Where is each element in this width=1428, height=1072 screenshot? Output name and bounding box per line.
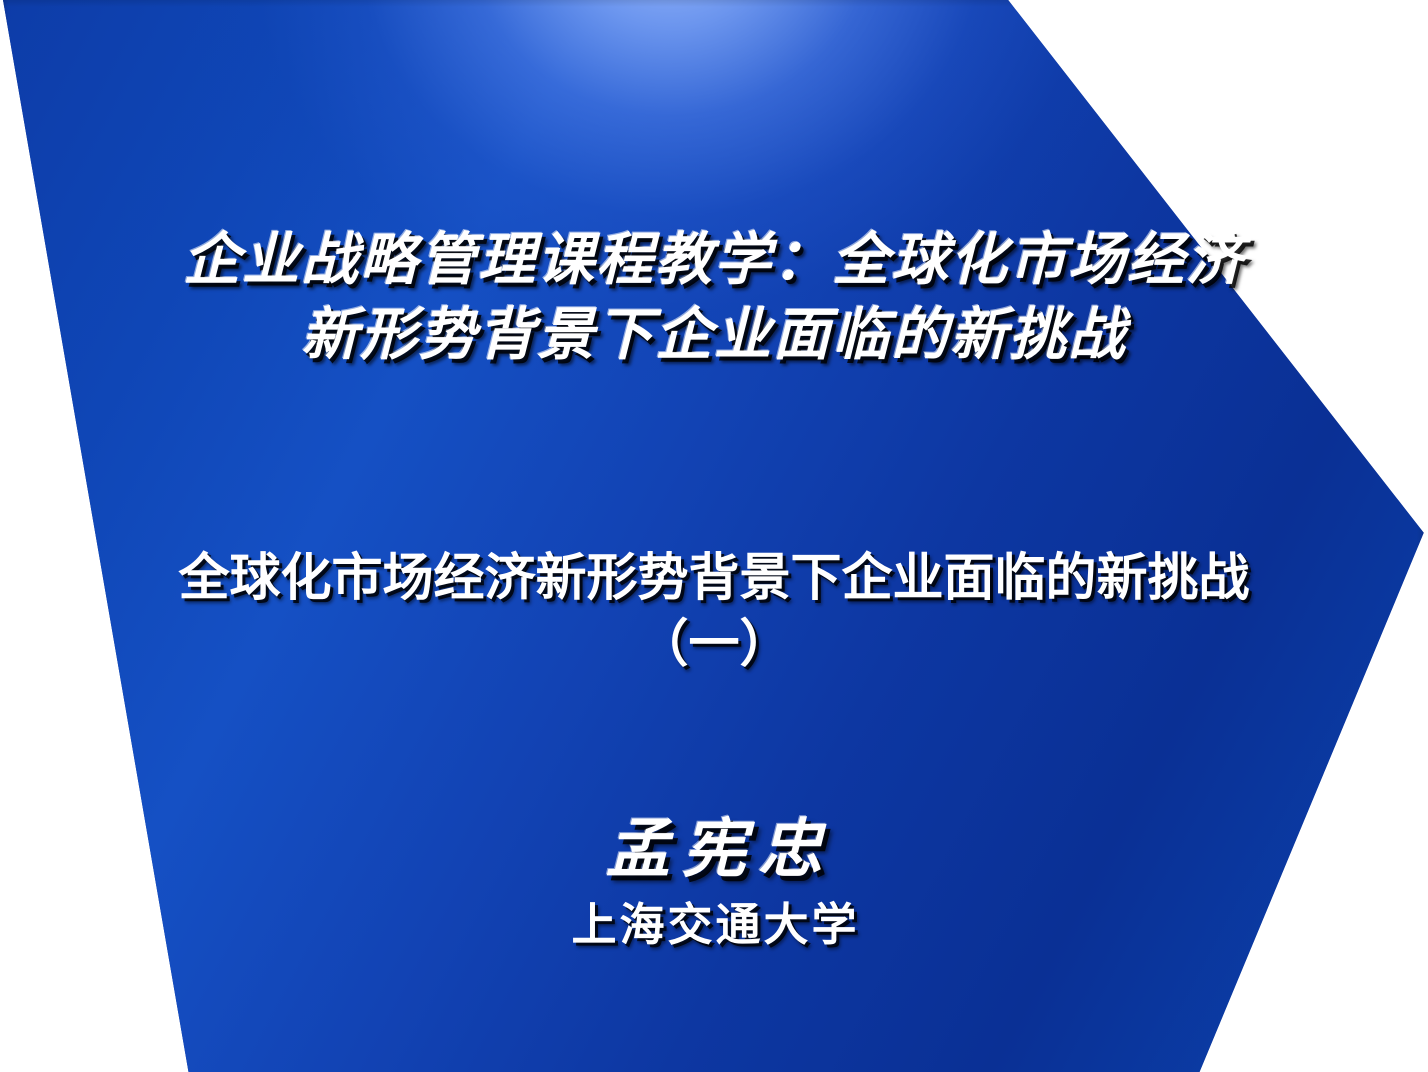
slide-main-title: 企业战略管理课程教学：全球化市场经济 新形势背景下企业面临的新挑战	[0, 226, 1428, 369]
main-title-line-1: 企业战略管理课程教学：全球化市场经济	[0, 226, 1428, 293]
presentation-slide: 企业战略管理课程教学：全球化市场经济 新形势背景下企业面临的新挑战 全球化市场经…	[0, 0, 1428, 1072]
subtitle-line-1: 全球化市场经济新形势背景下企业面临的新挑战	[0, 549, 1428, 609]
subtitle-line-2: （一）	[0, 615, 1428, 675]
slide-subtitle: 全球化市场经济新形势背景下企业面临的新挑战 （一）	[0, 549, 1428, 675]
main-title-line-2: 新形势背景下企业面临的新挑战	[0, 301, 1428, 368]
slide-author-name: 孟宪忠	[0, 812, 1428, 888]
slide-author-affiliation: 上海交通大学	[0, 898, 1428, 951]
